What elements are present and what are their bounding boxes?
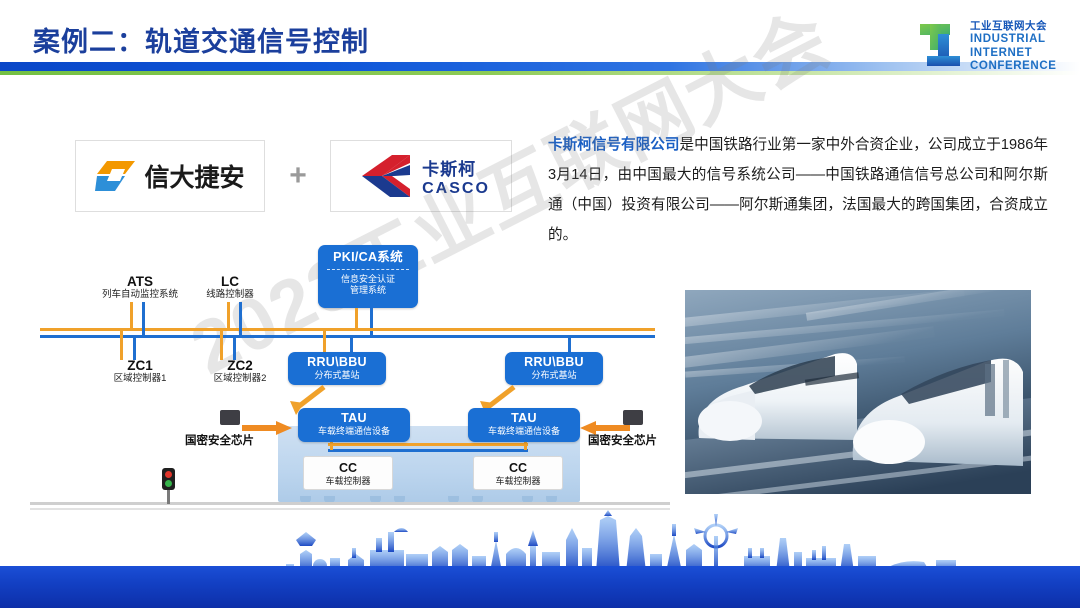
node-tau-left-sub: 车载终端通信设备: [298, 426, 410, 437]
node-pki-sub-1: 信息安全认证: [318, 274, 418, 285]
plus-icon: +: [281, 166, 315, 188]
signal-lamp-red: [165, 471, 172, 478]
slide-header: 案例二：轨道交通信号控制 工业互联网大会 INDUSTRIAL INTERNET…: [0, 0, 1080, 92]
conference-logo-en-2: INTERNET: [970, 47, 1057, 61]
node-cc-right-sub: 车载控制器: [474, 476, 562, 487]
label-zc1: ZC1 区域控制器1: [85, 358, 195, 385]
conference-logo-en-1: INDUSTRIAL: [970, 33, 1057, 47]
node-rru-left-sub: 分布式基站: [288, 370, 386, 381]
label-zc1-code: ZC1: [85, 358, 195, 373]
conference-logo: 工业互联网大会 INDUSTRIAL INTERNET CONFERENCE: [918, 16, 1058, 78]
casco-name-cn: 卡斯柯: [422, 155, 490, 180]
arrow-chip-left: [242, 420, 294, 436]
connector-zc1-orange: [120, 328, 123, 360]
connector-zc2-orange: [220, 328, 223, 360]
node-tau-right[interactable]: TAU 车载终端通信设备: [468, 408, 580, 442]
xdja-name: 信大捷安: [144, 158, 244, 194]
node-rru-left-title: RRU\BBU: [288, 355, 386, 370]
label-zc2: ZC2 区域控制器2: [185, 358, 295, 385]
connector-pki-blue: [370, 308, 373, 336]
connector-lc-blue: [239, 302, 242, 337]
label-zc1-name: 区域控制器1: [85, 373, 195, 385]
label-lc-code: LC: [175, 274, 285, 289]
label-zc2-code: ZC2: [185, 358, 295, 373]
node-cc-left-title: CC: [304, 461, 392, 476]
node-cc-right-title: CC: [474, 461, 562, 476]
train-photo: [685, 290, 1031, 494]
node-cc-left[interactable]: CC 车载控制器: [303, 456, 393, 490]
node-rru-right-title: RRU\BBU: [505, 355, 603, 370]
label-lc-name: 线路控制器: [175, 289, 285, 301]
arrow-chip-right: [578, 420, 630, 436]
connector-rru-left-blue: [350, 335, 353, 352]
footer-ground-band: [0, 566, 1080, 608]
node-tau-right-title: TAU: [468, 411, 580, 426]
logo-box-casco: 卡斯柯 CASCO: [330, 140, 512, 212]
node-tau-left[interactable]: TAU 车载终端通信设备: [298, 408, 410, 442]
node-rru-bbu-right[interactable]: RRU\BBU 分布式基站: [505, 352, 603, 385]
company-logo-row: 信大捷安 + 卡斯柯 CASCO: [75, 140, 515, 218]
signal-control-diagram: PKI/CA系统 信息安全认证 管理系统 ATS 列车自动监控系统 LC 线路控…: [30, 240, 670, 515]
signal-lamp-green: [165, 480, 172, 487]
xdja-mark-icon: [95, 159, 137, 193]
node-rru-bbu-left[interactable]: RRU\BBU 分布式基站: [288, 352, 386, 385]
casco-mark-icon: [352, 153, 414, 199]
conference-logo-en-3: CONFERENCE: [970, 60, 1057, 74]
node-cc-left-sub: 车载控制器: [304, 476, 392, 487]
train-internal-bus-blue: [328, 449, 528, 452]
page-title: 案例二：轨道交通信号控制: [33, 20, 369, 59]
conference-logo-cn: 工业互联网大会: [970, 18, 1057, 33]
train-internal-bus-orange: [328, 443, 528, 446]
train-photo-graphic: [685, 290, 1031, 494]
security-chip-icon-left: [220, 410, 240, 425]
connector-pki-orange: [355, 308, 358, 329]
label-lc: LC 线路控制器: [175, 274, 285, 301]
node-cc-right[interactable]: CC 车载控制器: [473, 456, 563, 490]
connector-rru-left-orange: [323, 328, 326, 352]
node-pki-divider: [327, 269, 409, 270]
connector-rru-right-blue: [568, 335, 571, 352]
node-pki-title: PKI/CA系统: [318, 250, 418, 265]
node-tau-right-sub: 车载终端通信设备: [468, 426, 580, 437]
node-pki-sub-2: 管理系统: [318, 285, 418, 296]
company-description: 卡斯柯信号有限公司是中国铁路行业第一家中外合资企业，公司成立于1986年3月14…: [548, 130, 1048, 250]
connector-zc1-blue: [133, 335, 136, 360]
connector-lc-orange: [227, 302, 230, 330]
connector-ats-blue: [142, 302, 145, 337]
trackside-signal-icon: [162, 468, 175, 490]
connector-zc2-blue: [233, 335, 236, 360]
connector-ats-orange: [130, 302, 133, 330]
label-zc2-name: 区域控制器2: [185, 373, 295, 385]
rail-line: [30, 502, 670, 505]
node-tau-left-title: TAU: [298, 411, 410, 426]
company-description-highlight: 卡斯柯信号有限公司: [548, 137, 680, 153]
conference-logo-icon: [918, 20, 964, 72]
node-pki-ca[interactable]: PKI/CA系统 信息安全认证 管理系统: [318, 245, 418, 308]
conference-logo-text: 工业互联网大会 INDUSTRIAL INTERNET CONFERENCE: [970, 18, 1057, 74]
slide-footer: [0, 512, 1080, 608]
node-rru-right-sub: 分布式基站: [505, 370, 603, 381]
casco-name-en: CASCO: [422, 180, 490, 198]
city-skyline-icon: [0, 510, 1080, 572]
logo-box-xdja: 信大捷安: [75, 140, 265, 212]
